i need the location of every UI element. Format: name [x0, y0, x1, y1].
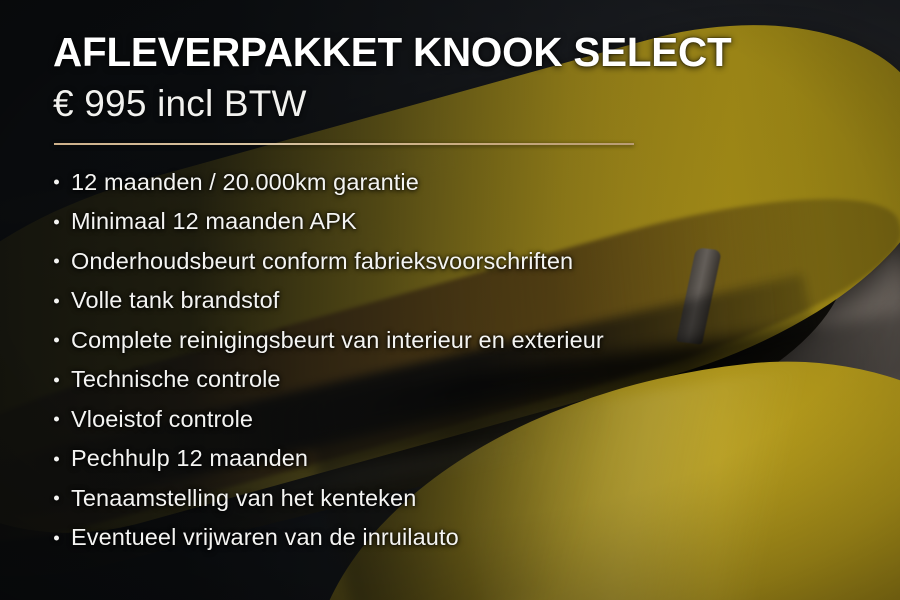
list-item: Vloeistof controle	[53, 400, 843, 440]
divider	[54, 143, 634, 145]
promo-slide: AFLEVERPAKKET KNOOK SELECT € 995 incl BT…	[0, 0, 900, 600]
list-item: Complete reinigingsbeurt van interieur e…	[53, 321, 843, 361]
list-item: Eventueel vrijwaren van de inruilauto	[53, 518, 843, 558]
bullet-dot-icon	[54, 298, 59, 303]
bullet-dot-icon	[54, 219, 59, 224]
list-item-label: Technische controle	[71, 366, 281, 392]
list-item-label: Minimaal 12 maanden APK	[71, 208, 357, 234]
list-item-label: Vloeistof controle	[71, 406, 253, 432]
bullet-dot-icon	[54, 180, 59, 185]
feature-list: 12 maanden / 20.000km garantieMinimaal 1…	[53, 163, 843, 558]
list-item: Minimaal 12 maanden APK	[53, 202, 843, 242]
list-item: Technische controle	[53, 360, 843, 400]
price-label: € 995 incl BTW	[53, 84, 843, 125]
list-item-label: Volle tank brandstof	[71, 287, 279, 313]
list-item: 12 maanden / 20.000km garantie	[53, 163, 843, 203]
list-item-label: Pechhulp 12 maanden	[71, 445, 308, 471]
list-item-label: Eventueel vrijwaren van de inruilauto	[71, 524, 459, 550]
list-item-label: Tenaamstelling van het kenteken	[71, 485, 416, 511]
list-item-label: Complete reinigingsbeurt van interieur e…	[71, 327, 604, 353]
list-item-label: Onderhoudsbeurt conform fabrieksvoorschr…	[71, 248, 573, 274]
bullet-dot-icon	[54, 417, 59, 422]
bullet-dot-icon	[54, 377, 59, 382]
list-item: Volle tank brandstof	[53, 281, 843, 321]
list-item: Pechhulp 12 maanden	[53, 439, 843, 479]
bullet-dot-icon	[54, 259, 59, 264]
list-item: Onderhoudsbeurt conform fabrieksvoorschr…	[53, 242, 843, 282]
bullet-dot-icon	[54, 535, 59, 540]
bullet-dot-icon	[54, 456, 59, 461]
page-title: AFLEVERPAKKET KNOOK SELECT	[53, 30, 831, 76]
bullet-dot-icon	[54, 338, 59, 343]
bullet-dot-icon	[54, 496, 59, 501]
slide-content: AFLEVERPAKKET KNOOK SELECT € 995 incl BT…	[53, 30, 843, 558]
list-item-label: 12 maanden / 20.000km garantie	[71, 169, 419, 195]
list-item: Tenaamstelling van het kenteken	[53, 479, 843, 519]
